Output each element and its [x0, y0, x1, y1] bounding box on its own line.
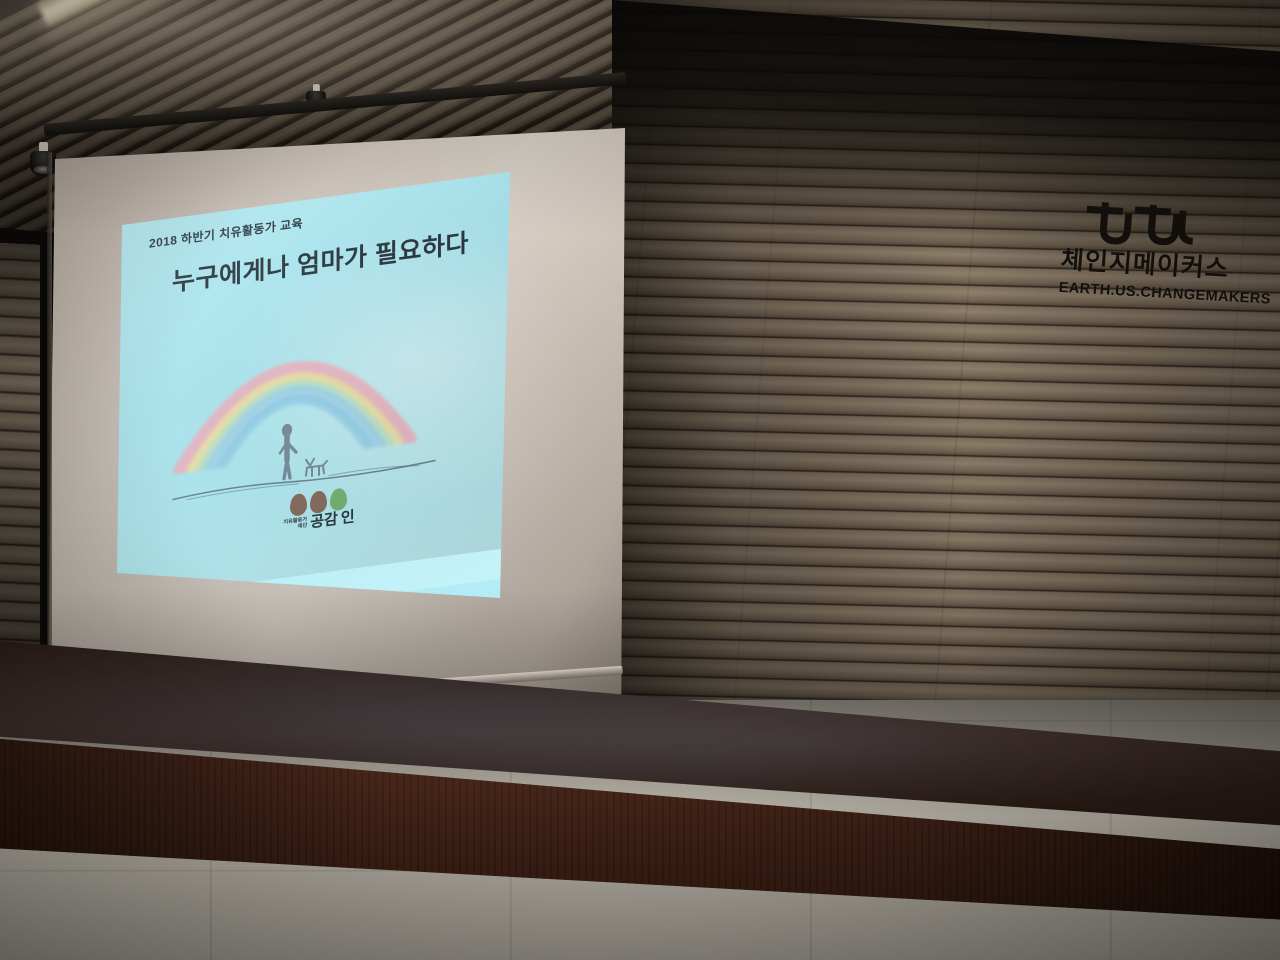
brand-name-main: 공감 [310, 512, 338, 531]
person-and-dog-icon [265, 415, 345, 496]
brand-subtext: 치유활동가 재단 [283, 518, 307, 534]
brand-subtext-line2: 재단 [298, 523, 308, 530]
brand-name-accent: 인 [341, 509, 355, 526]
auditorium-scene: 체인지메이커스 EARTH.US.CHANGEMAKERS 2018 하반기 치… [0, 0, 1280, 960]
projected-slide[interactable]: 2018 하반기 치유활동가 교육 누구에게나 엄마가 필요하다 [117, 170, 510, 600]
spot-light-left-icon [30, 142, 56, 176]
screen-left-edge [47, 152, 52, 708]
